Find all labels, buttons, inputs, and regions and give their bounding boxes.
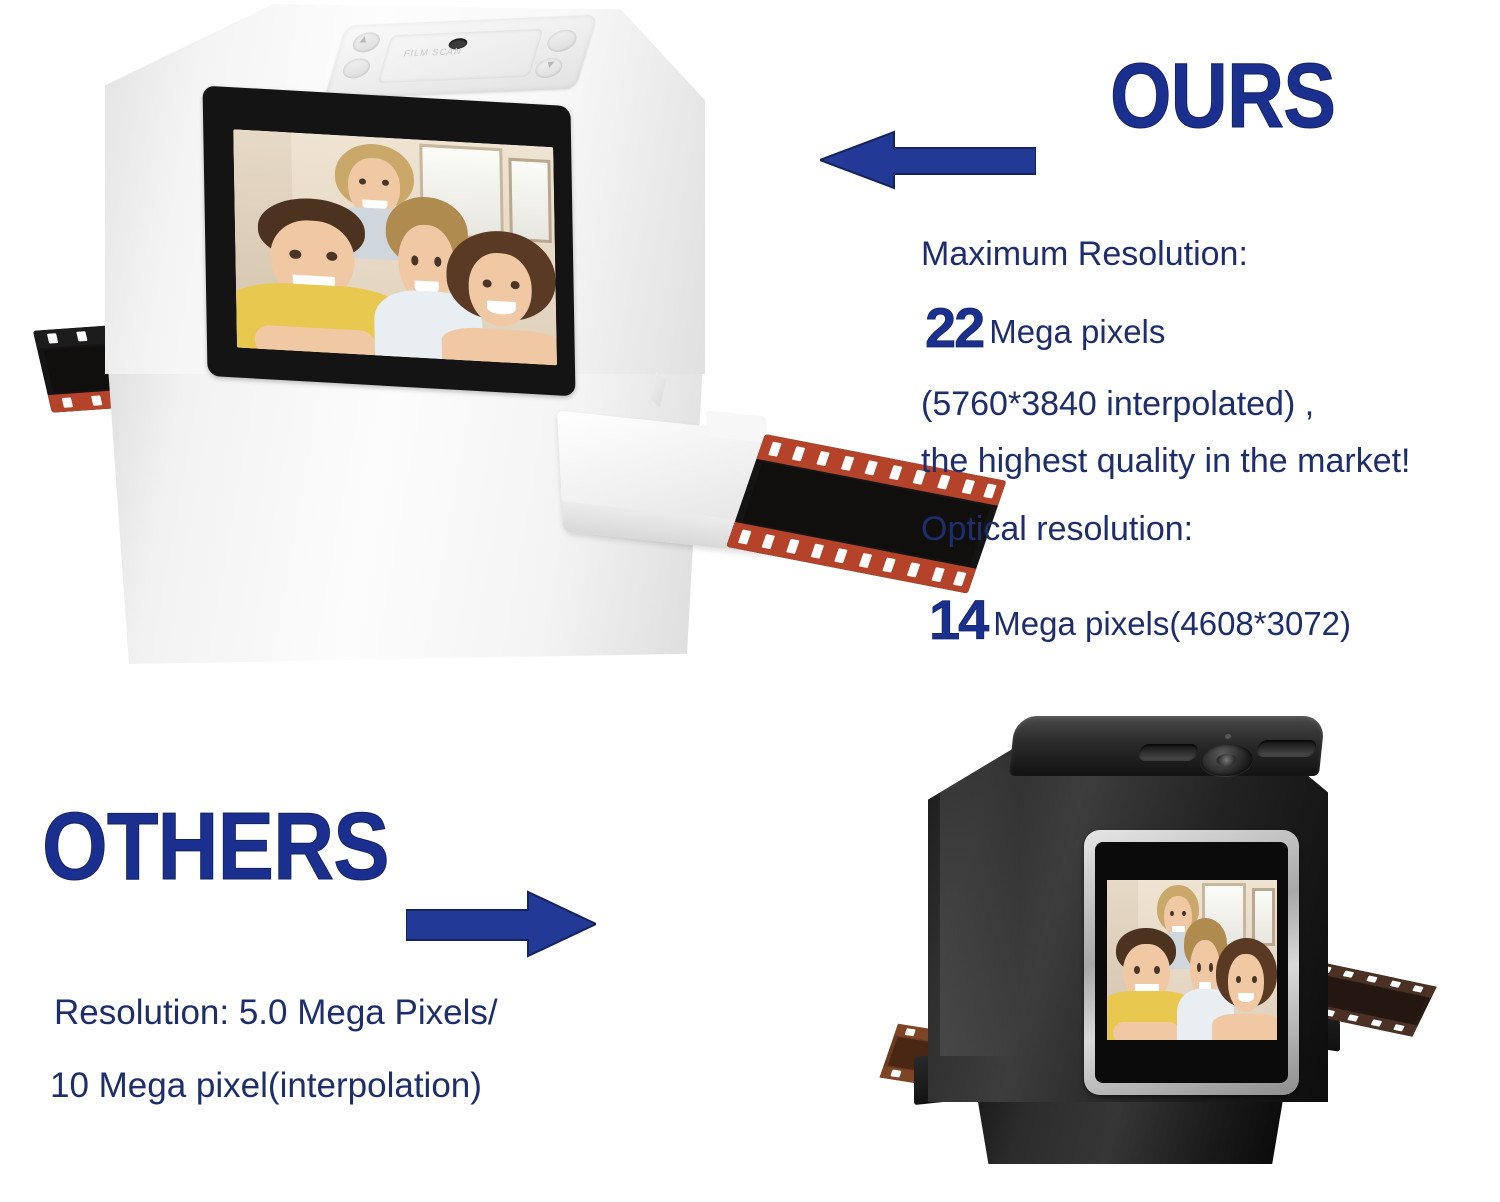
white-scanner-lcd-bezel (202, 86, 575, 397)
optical-resolution-unit: Mega pixels(4608*3072) (993, 605, 1351, 642)
black-scanner-top-panel[interactable] (1009, 716, 1325, 776)
black-panel-button-right[interactable] (1256, 740, 1318, 756)
panel-button-down[interactable] (340, 58, 372, 79)
others-resolution-line-1: Resolution: 5.0 Mega Pixels/ (54, 995, 498, 1030)
panel-button-ok[interactable] (544, 29, 579, 52)
right-arrow-icon (406, 886, 596, 958)
max-resolution-unit: Mega pixels (989, 313, 1165, 350)
white-scanner-lcd-screen (233, 129, 557, 365)
optical-resolution-label: Optical resolution: (921, 512, 1193, 546)
max-resolution-interpolated: (5760*3840 interpolated) , (921, 387, 1314, 421)
left-arrow-icon (820, 126, 1036, 190)
film-tray-notch (706, 410, 767, 443)
comparison-infographic: ▲ ▼ FILM SCAN (0, 0, 1500, 1202)
optical-resolution-value: 14Mega pixels(4608*3072) (929, 592, 1351, 648)
optical-resolution-number: 14 (929, 588, 987, 651)
black-panel-indicator-icon (1225, 734, 1232, 739)
black-panel-button-left[interactable] (1137, 744, 1199, 760)
max-resolution-claim: the highest quality in the market! (921, 444, 1411, 478)
others-headline: OTHERS (42, 792, 389, 902)
max-resolution-number: 22 (925, 296, 983, 359)
max-resolution-label: Maximum Resolution: (921, 237, 1248, 271)
black-film-scanner-image (900, 700, 1500, 1200)
others-resolution-line-2: 10 Mega pixel(interpolation) (50, 1068, 482, 1103)
family-photo (233, 129, 557, 365)
family-photo (1107, 880, 1277, 1040)
black-scanner-lcd-frame (1084, 830, 1299, 1095)
black-panel-navigation-pad[interactable] (1199, 744, 1254, 776)
max-resolution-value: 22Mega pixels (925, 300, 1165, 356)
white-scanner-body: ▲ ▼ FILM SCAN (105, 4, 705, 664)
white-film-scanner-image: ▲ ▼ FILM SCAN (60, 0, 760, 696)
ours-headline: OURS (1110, 44, 1335, 149)
white-scanner-control-panel[interactable]: ▲ ▼ FILM SCAN (324, 15, 598, 100)
black-scanner-lcd-screen (1107, 880, 1277, 1040)
black-scanner-lcd-bezel (1095, 842, 1288, 1083)
